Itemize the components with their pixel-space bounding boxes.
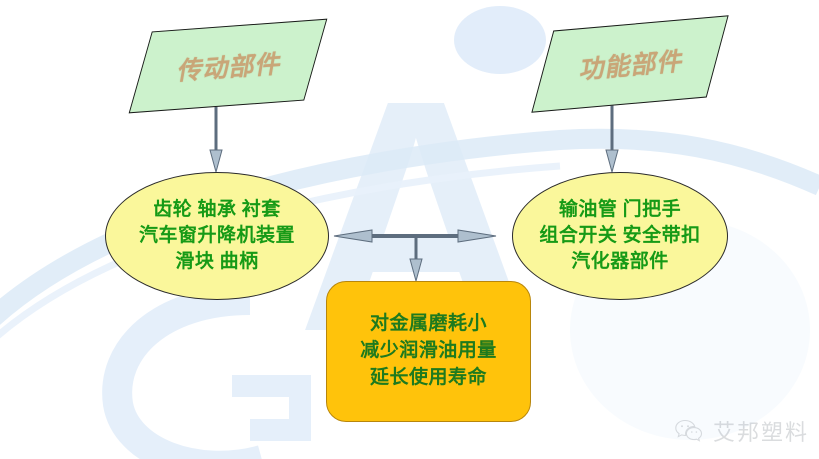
arrow-functional-to-items xyxy=(606,103,618,172)
node-functional-items[interactable]: 输油管 门把手 组合开关 安全带扣 汽化器部件 xyxy=(512,172,728,300)
arrow-transmission-to-items xyxy=(210,104,222,172)
node-label-functional-items: 输油管 门把手 组合开关 安全带扣 汽化器部件 xyxy=(539,197,700,274)
node-label-functional: 功能部件 xyxy=(539,16,721,111)
diagram-canvas: A xyxy=(0,0,819,459)
corner-watermark: 艾邦塑料 xyxy=(674,415,809,447)
wechat-icon xyxy=(674,418,704,444)
node-transmission-parts[interactable]: 传动部件 xyxy=(137,20,318,113)
arrow-items-to-benefits xyxy=(410,236,422,281)
node-label-benefits: 对金属磨耗小 减少润滑油用量 延长使用寿命 xyxy=(360,311,497,392)
node-benefits[interactable]: 对金属磨耗小 减少润滑油用量 延长使用寿命 xyxy=(326,281,531,422)
node-label-transmission: 传动部件 xyxy=(137,20,318,113)
node-functional-parts[interactable]: 功能部件 xyxy=(539,16,721,111)
corner-watermark-text: 艾邦塑料 xyxy=(713,415,809,447)
arrow-items-bidirectional xyxy=(334,230,496,242)
node-label-transmission-items: 齿轮 轴承 衬套 汽车窗升降机装置 滑块 曲柄 xyxy=(139,197,295,274)
node-transmission-items[interactable]: 齿轮 轴承 衬套 汽车窗升降机装置 滑块 曲柄 xyxy=(105,172,329,300)
